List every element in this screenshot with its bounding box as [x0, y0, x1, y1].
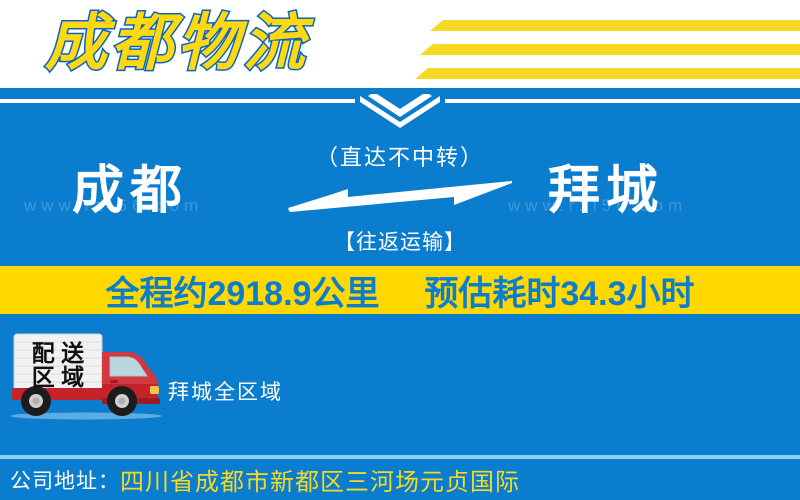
address-bar: 公司地址： 四川省成都市新都区三河场元贞国际 [0, 459, 800, 500]
metrics-bar: 全程约2918.9公里 预估耗时34.3小时 [0, 266, 800, 314]
page-title: 成都物流 [45, 2, 309, 86]
address-label: 公司地址： [10, 465, 120, 495]
stripe-1 [430, 20, 800, 31]
duration-value: 预估耗时34.3小时 [424, 275, 694, 313]
address-value: 四川省成都市新都区三河场元贞国际 [120, 462, 520, 497]
origin-city: 成都 [72, 160, 188, 222]
delivery-truck-icon: 配 送 区 域 [6, 330, 166, 422]
truck-box-line2: 区 域 [32, 364, 84, 390]
coverage-area-text: 拜城全区域 [168, 376, 283, 406]
chevron-down-icon [360, 94, 440, 128]
metrics-text: 全程约2918.9公里 预估耗时34.3小时 [105, 266, 694, 315]
header-band: 成都物流 [0, 0, 800, 88]
roundtrip-note: 【往返运输】 [0, 226, 800, 256]
decorative-stripes [415, 8, 800, 80]
double-arrow-icon [288, 178, 512, 220]
truck-box-line1: 配 送 [32, 340, 84, 366]
route-panel: www.rzl56.com www.rzl56.com www.rzl56.co… [0, 88, 800, 266]
coverage-panel: www.rzl56.com www.rzl56.com www.rzl56.co… [0, 314, 800, 455]
stripe-3 [415, 68, 800, 79]
logistics-poster: 成都物流 www.rzl56.com www.rzl56.com www.rzl… [0, 0, 800, 500]
distance-value: 全程约2918.9公里 [105, 275, 379, 313]
stripe-2 [420, 44, 800, 55]
destination-city: 拜城 [548, 160, 664, 222]
